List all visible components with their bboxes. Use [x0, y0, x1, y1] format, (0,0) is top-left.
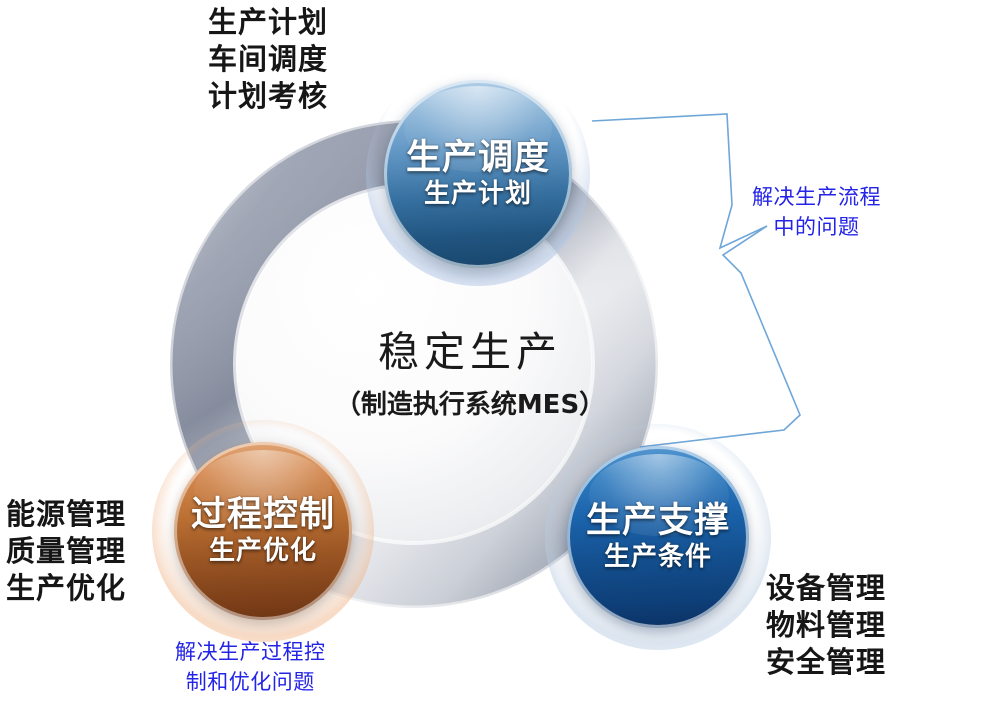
diagram-canvas: 稳定生产 （制造执行系统MES） 生产调度 生产计划 过程控制 生产优化 生产支…	[0, 0, 983, 717]
label-left: 能源管理 质量管理 生产优化	[6, 496, 126, 607]
node-production-scheduling[interactable]: 生产调度 生产计划	[366, 62, 590, 286]
center-caption: 稳定生产 （制造执行系统MES）	[285, 330, 655, 420]
node-left-title: 过程控制	[191, 497, 335, 535]
node-production-support[interactable]: 生产支撑 生产条件	[545, 424, 771, 650]
node-top-title: 生产调度	[406, 140, 550, 178]
node-process-control[interactable]: 过程控制 生产优化	[152, 420, 374, 642]
callout-bottom: 解决生产过程控 制和优化问题	[175, 637, 326, 698]
node-left-labels: 过程控制 生产优化	[191, 497, 335, 565]
label-bottom-right: 设备管理 物料管理 安全管理	[766, 570, 886, 681]
node-right-labels: 生产支撑 生产条件	[586, 503, 730, 571]
core-title: 稳定生产	[285, 330, 655, 375]
node-left-subtitle: 生产优化	[191, 537, 335, 565]
node-top-labels: 生产调度 生产计划	[406, 140, 550, 208]
node-top-subtitle: 生产计划	[406, 180, 550, 208]
node-right-title: 生产支撑	[586, 503, 730, 541]
label-top-left: 生产计划 车间调度 计划考核	[208, 4, 328, 115]
core-subtitle: （制造执行系统MES）	[285, 391, 655, 420]
connector-right-branch	[640, 226, 800, 447]
callout-right: 解决生产流程 中的问题	[752, 182, 881, 243]
node-right-subtitle: 生产条件	[586, 543, 730, 571]
